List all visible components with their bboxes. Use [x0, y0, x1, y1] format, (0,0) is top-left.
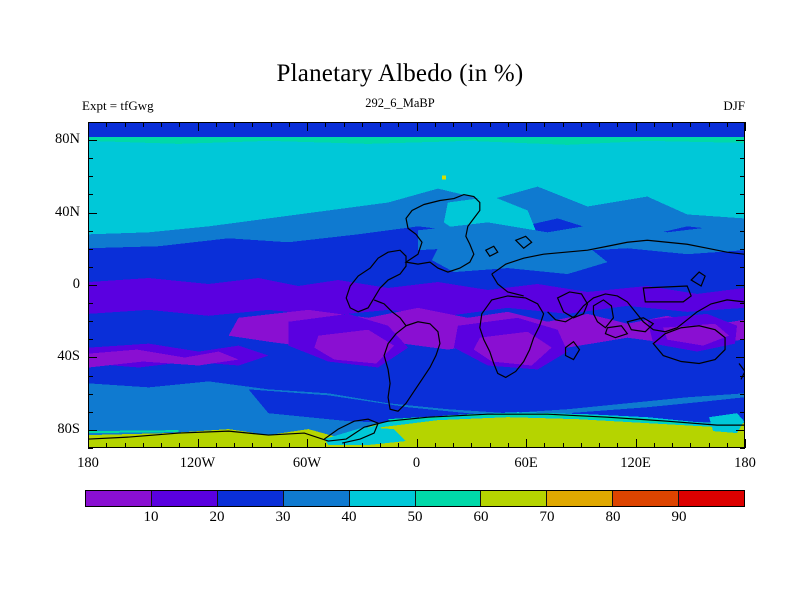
y-tick: [88, 321, 93, 322]
x-tick: [727, 122, 728, 127]
y-axis-label: 0: [34, 276, 80, 293]
y-tick: [88, 267, 93, 268]
colorbar-tick-label: 50: [385, 509, 445, 526]
y-tick: [740, 122, 745, 123]
x-tick: [727, 443, 728, 448]
x-tick: [617, 122, 618, 127]
page-title: Planetary Albedo (in %): [0, 60, 800, 88]
x-tick: [398, 122, 399, 127]
y-tick: [740, 448, 745, 449]
x-tick: [544, 443, 545, 448]
map-contours: [89, 123, 744, 447]
x-tick: [599, 122, 600, 127]
colorbar-swatch: [481, 491, 547, 506]
x-tick: [289, 122, 290, 127]
y-tick: [740, 394, 745, 395]
x-tick: [417, 439, 418, 448]
x-tick: [271, 443, 272, 448]
y-tick: [740, 376, 745, 377]
x-tick: [544, 122, 545, 127]
y-tick: [88, 339, 93, 340]
x-tick: [526, 439, 527, 448]
season-label: DJF: [723, 98, 745, 114]
y-tick: [740, 176, 745, 177]
x-tick: [563, 443, 564, 448]
x-tick: [252, 443, 253, 448]
x-tick: [581, 122, 582, 127]
colorbar-tick-label: 20: [187, 509, 247, 526]
x-tick: [453, 122, 454, 127]
y-tick: [740, 158, 745, 159]
x-tick: [380, 122, 381, 127]
x-tick: [417, 122, 418, 131]
x-tick: [125, 443, 126, 448]
x-tick: [581, 443, 582, 448]
y-tick: [740, 194, 745, 195]
colorbar-swatch: [416, 491, 482, 506]
colorbar-tick-label: 40: [319, 509, 379, 526]
colorbar-tick-label: 80: [583, 509, 643, 526]
x-axis-label: 120E: [601, 455, 671, 472]
y-tick: [740, 339, 745, 340]
y-tick: [740, 249, 745, 250]
y-tick: [736, 357, 745, 358]
x-tick: [471, 122, 472, 127]
x-tick: [380, 443, 381, 448]
y-axis-label: 40S: [34, 348, 80, 365]
x-tick: [690, 122, 691, 127]
y-tick: [88, 176, 93, 177]
y-axis-label: 80N: [34, 131, 80, 148]
y-tick: [88, 249, 93, 250]
y-tick: [740, 321, 745, 322]
x-tick: [636, 439, 637, 448]
x-tick: [234, 443, 235, 448]
x-tick: [271, 122, 272, 127]
y-axis-label: 40N: [34, 204, 80, 221]
colorbar-tick-label: 30: [253, 509, 313, 526]
colorbar-swatch: [547, 491, 613, 506]
x-tick: [617, 443, 618, 448]
y-tick: [736, 140, 745, 141]
x-axis-label: 0: [382, 455, 452, 472]
x-tick: [563, 122, 564, 127]
x-tick: [325, 443, 326, 448]
y-tick: [740, 412, 745, 413]
x-tick: [344, 443, 345, 448]
x-tick: [453, 443, 454, 448]
y-tick: [736, 430, 745, 431]
x-tick: [654, 122, 655, 127]
x-tick: [435, 122, 436, 127]
y-tick: [88, 285, 97, 286]
y-tick: [88, 213, 97, 214]
colorbar-swatch: [152, 491, 218, 506]
x-tick: [198, 439, 199, 448]
colorbar-swatch: [613, 491, 679, 506]
x-tick: [161, 443, 162, 448]
x-tick: [125, 122, 126, 127]
colorbar-swatch: [218, 491, 284, 506]
colorbar-tick-label: 10: [121, 509, 181, 526]
y-tick: [88, 122, 93, 123]
x-tick: [198, 122, 199, 131]
x-tick: [106, 122, 107, 127]
y-tick: [88, 158, 93, 159]
x-tick: [362, 443, 363, 448]
x-tick: [745, 439, 746, 448]
x-tick: [143, 122, 144, 127]
x-tick: [307, 439, 308, 448]
x-tick: [362, 122, 363, 127]
y-tick: [88, 448, 93, 449]
x-tick: [307, 122, 308, 131]
x-tick: [216, 122, 217, 127]
colorbar: [85, 490, 745, 507]
x-tick: [709, 443, 710, 448]
x-axis-label: 120W: [163, 455, 233, 472]
x-tick: [654, 443, 655, 448]
x-tick: [526, 122, 527, 131]
x-tick: [745, 122, 746, 131]
x-tick: [179, 122, 180, 127]
x-tick: [289, 443, 290, 448]
colorbar-swatch: [86, 491, 152, 506]
x-tick: [161, 122, 162, 127]
x-tick: [636, 122, 637, 131]
x-tick: [490, 122, 491, 127]
x-tick: [508, 443, 509, 448]
y-tick: [88, 394, 93, 395]
x-tick: [88, 439, 89, 448]
y-tick: [88, 303, 93, 304]
x-tick: [344, 122, 345, 127]
y-tick: [88, 376, 93, 377]
figure-canvas: Planetary Albedo (in %) Expt = tfGwg 292…: [0, 0, 800, 600]
colorbar-tick-label: 90: [649, 509, 709, 526]
x-tick: [690, 443, 691, 448]
colorbar-swatch: [350, 491, 416, 506]
y-tick: [88, 140, 97, 141]
x-tick: [216, 443, 217, 448]
x-tick: [179, 443, 180, 448]
x-tick: [325, 122, 326, 127]
y-tick: [740, 231, 745, 232]
y-tick: [88, 231, 93, 232]
y-axis-label: 80S: [34, 421, 80, 438]
y-tick: [736, 213, 745, 214]
y-tick: [88, 194, 93, 195]
x-axis-label: 180: [710, 455, 780, 472]
x-tick: [398, 443, 399, 448]
x-tick: [106, 443, 107, 448]
x-tick: [471, 443, 472, 448]
y-tick: [88, 357, 97, 358]
x-axis-label: 60E: [491, 455, 561, 472]
y-tick: [740, 303, 745, 304]
x-tick: [88, 122, 89, 131]
x-tick: [234, 122, 235, 127]
colorbar-tick-label: 60: [451, 509, 511, 526]
x-tick: [672, 443, 673, 448]
y-tick: [736, 285, 745, 286]
y-tick: [740, 267, 745, 268]
x-tick: [490, 443, 491, 448]
colorbar-swatch: [679, 491, 744, 506]
x-tick: [508, 122, 509, 127]
x-tick: [143, 443, 144, 448]
y-tick: [88, 430, 97, 431]
colorbar-tick-label: 70: [517, 509, 577, 526]
colorbar-swatch: [284, 491, 350, 506]
x-axis-label: 180: [53, 455, 123, 472]
albedo-map-plot: [88, 122, 745, 448]
x-tick: [709, 122, 710, 127]
x-tick: [252, 122, 253, 127]
y-tick: [88, 412, 93, 413]
run-id-label: 292_6_MaBP: [0, 96, 800, 111]
x-axis-label: 60W: [272, 455, 342, 472]
x-tick: [672, 122, 673, 127]
x-tick: [435, 443, 436, 448]
x-tick: [599, 443, 600, 448]
